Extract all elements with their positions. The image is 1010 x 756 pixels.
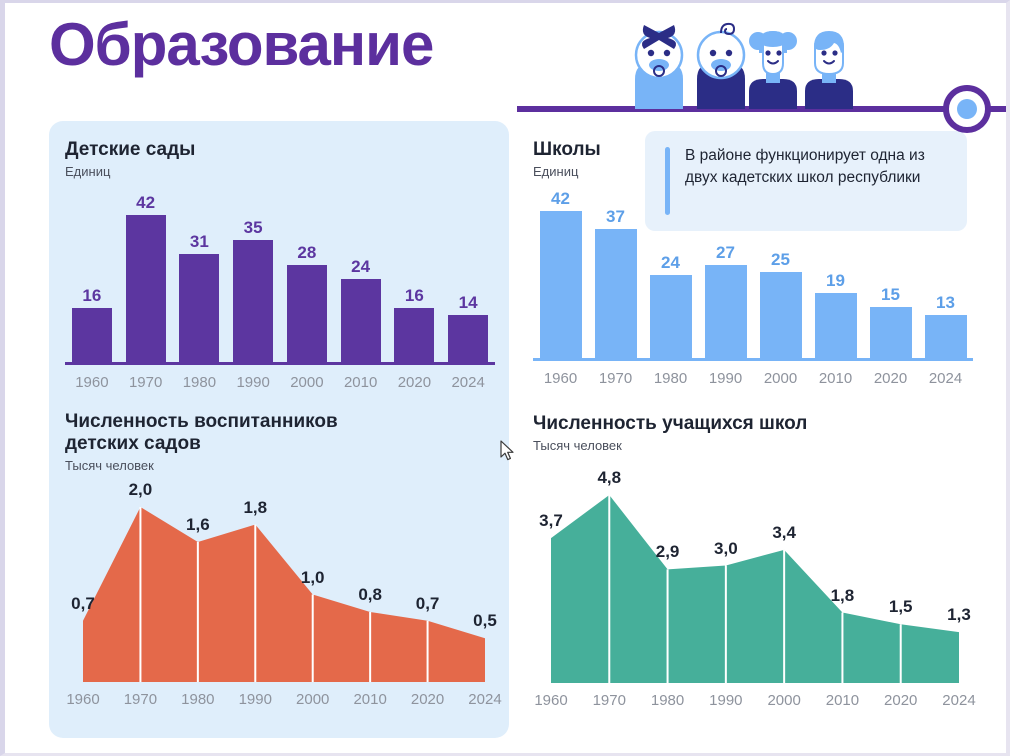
area-value-label: 2,0 [129,481,153,498]
x-axis-tick: 1960 [533,370,588,387]
schools-x-axis: 19601970198019902000201020202024 [533,363,973,387]
school-pupils-x-axis: 19601970198019902000201020202024 [533,685,973,709]
x-axis-tick: 2020 [863,370,918,387]
bar-rect[interactable] [815,293,857,361]
x-axis-tick: 2000 [280,374,334,391]
bar-value-label: 16 [405,287,424,304]
bar-value-label: 19 [826,272,845,289]
chart-school-pupils: Численность учащихся школ Тысяч человек … [533,413,973,711]
area-value-label: 1,8 [831,587,855,604]
header-dot-marker [943,85,991,133]
area-value-label: 1,3 [947,606,971,623]
area-value-label: 1,5 [889,598,913,615]
x-axis-tick: 1990 [227,691,284,708]
school-pupils-area-svg [533,461,973,685]
x-axis-tick: 1960 [65,374,119,391]
x-axis-tick: 1980 [638,692,696,709]
area-value-label: 3,0 [714,540,738,557]
bar-column[interactable]: 16 [394,191,434,365]
chart-school-pupils-title: Численность учащихся школ [533,413,973,435]
chart-kindergarten-pupils-plot: 0,72,01,61,81,00,80,70,51960197019801990… [65,473,495,708]
bar-rect[interactable] [448,315,488,365]
bar-value-label: 24 [351,258,370,275]
bar-column[interactable]: 42 [540,187,582,361]
kindergarten-pupils-x-axis: 19601970198019902000201020202024 [65,684,495,708]
x-axis-tick: 1970 [580,692,638,709]
bar-rect[interactable] [925,315,967,361]
x-axis-tick: 2024 [456,691,513,708]
bar-column[interactable]: 16 [72,191,112,365]
bar-rect[interactable] [705,265,747,361]
bar-value-label: 27 [716,244,735,261]
schoolgirl-icon [749,31,797,109]
bar-rect[interactable] [394,308,434,365]
x-axis-tick: 1970 [119,374,173,391]
bar-value-label: 42 [551,190,570,207]
bar-rect[interactable] [870,307,912,361]
bar-rect[interactable] [760,272,802,361]
chart-kindergartens-subtitle: Единиц [65,164,495,179]
bar-column[interactable]: 28 [287,191,327,365]
x-axis-tick: 1980 [173,374,227,391]
x-axis-tick: 1970 [588,370,643,387]
bar-column[interactable]: 35 [233,191,273,365]
bar-value-label: 14 [459,294,478,311]
x-axis-tick: 2010 [334,374,388,391]
bar-rect[interactable] [233,240,273,365]
area-value-label: 0,7 [416,595,440,612]
chart-kindergartens-title: Детские сады [65,139,495,161]
x-axis-tick: 1990 [697,692,755,709]
page-title: Образование [49,15,433,75]
x-axis-tick: 1980 [169,691,226,708]
mouse-cursor [500,440,516,462]
bar-value-label: 13 [936,294,955,311]
chart-school-pupils-subtitle: Тысяч человек [533,438,973,453]
bar-rect[interactable] [126,215,166,365]
x-axis-tick: 2020 [388,374,442,391]
chart-kindergarten-pupils-title: Численность воспитанников детских садов [65,411,495,455]
x-axis-tick: 2024 [930,692,988,709]
kindergartens-bars: 1642313528241614 [65,191,495,365]
bar-rect[interactable] [287,265,327,365]
bar-value-label: 42 [136,194,155,211]
area-value-label: 3,7 [539,512,563,529]
x-axis-tick: 1990 [226,374,280,391]
bar-value-label: 15 [881,286,900,303]
x-axis-tick: 2010 [808,370,863,387]
area-value-label: 0,7 [71,595,95,612]
infographic-page: Образование [0,0,1010,756]
x-axis-tick: 2000 [755,692,813,709]
area-fill[interactable] [551,495,959,683]
x-axis-tick: 1990 [698,370,753,387]
area-value-label: 1,8 [243,499,267,516]
kindergartens-x-axis: 19601970198019902000201020202024 [65,367,495,391]
x-axis-tick: 2000 [753,370,808,387]
bar-rect[interactable] [650,275,692,361]
bar-rect[interactable] [540,211,582,361]
area-value-label: 4,8 [597,469,621,486]
bar-value-label: 16 [82,287,101,304]
chart-kindergarten-pupils-subtitle: Тысяч человек [65,458,495,473]
bar-rect[interactable] [595,229,637,361]
x-axis-tick: 1960 [522,692,580,709]
baby-girl-icon [635,25,683,109]
bar-column[interactable]: 24 [341,191,381,365]
x-axis-tick: 2024 [918,370,973,387]
kindergarten-pupils-area-svg [65,473,495,684]
bar-value-label: 31 [190,233,209,250]
chart-kindergartens: Детские сады Единиц 16423135282416141960… [65,139,495,391]
x-axis-tick: 1980 [643,370,698,387]
bar-rect[interactable] [179,254,219,365]
kindergartens-baseline [65,362,495,365]
x-axis-tick: 1970 [112,691,169,708]
bar-rect[interactable] [341,279,381,365]
bar-column[interactable]: 14 [448,191,488,365]
bar-column[interactable]: 37 [595,187,637,361]
bar-value-label: 35 [244,219,263,236]
header-dot-inner [957,99,977,119]
chart-kindergarten-pupils: Численность воспитанников детских садов … [65,411,495,711]
x-axis-tick: 2024 [441,374,495,391]
callout-accent-bar [665,147,670,215]
area-value-label: 2,9 [656,543,680,560]
children-illustration [617,17,867,109]
bar-value-label: 25 [771,251,790,268]
bar-rect[interactable] [72,308,112,365]
x-axis-tick: 2010 [813,692,871,709]
area-value-label: 1,0 [301,569,325,586]
area-value-label: 0,5 [473,612,497,629]
area-value-label: 3,4 [772,524,796,541]
x-axis-tick: 2000 [284,691,341,708]
bar-value-label: 24 [661,254,680,271]
area-value-label: 0,8 [358,586,382,603]
bar-value-label: 37 [606,208,625,225]
chart-kindergartens-plot: 1642313528241614196019701980199020002010… [65,191,495,391]
x-axis-tick: 2020 [872,692,930,709]
bar-value-label: 28 [297,244,316,261]
chart-school-pupils-plot: 3,74,82,93,03,41,81,51,31960197019801990… [533,461,973,709]
bar-column[interactable]: 42 [126,191,166,365]
callout-box: В районе функционирует одна из двух каде… [645,131,967,231]
bar-column[interactable]: 31 [179,191,219,365]
callout-text: В районе функционирует одна из двух каде… [685,145,951,189]
area-value-label: 1,6 [186,516,210,533]
baby-boy-icon [697,24,745,109]
schools-baseline [533,358,973,361]
schoolboy-icon [805,31,853,109]
x-axis-tick: 2020 [399,691,456,708]
x-axis-tick: 2010 [341,691,398,708]
x-axis-tick: 1960 [54,691,111,708]
